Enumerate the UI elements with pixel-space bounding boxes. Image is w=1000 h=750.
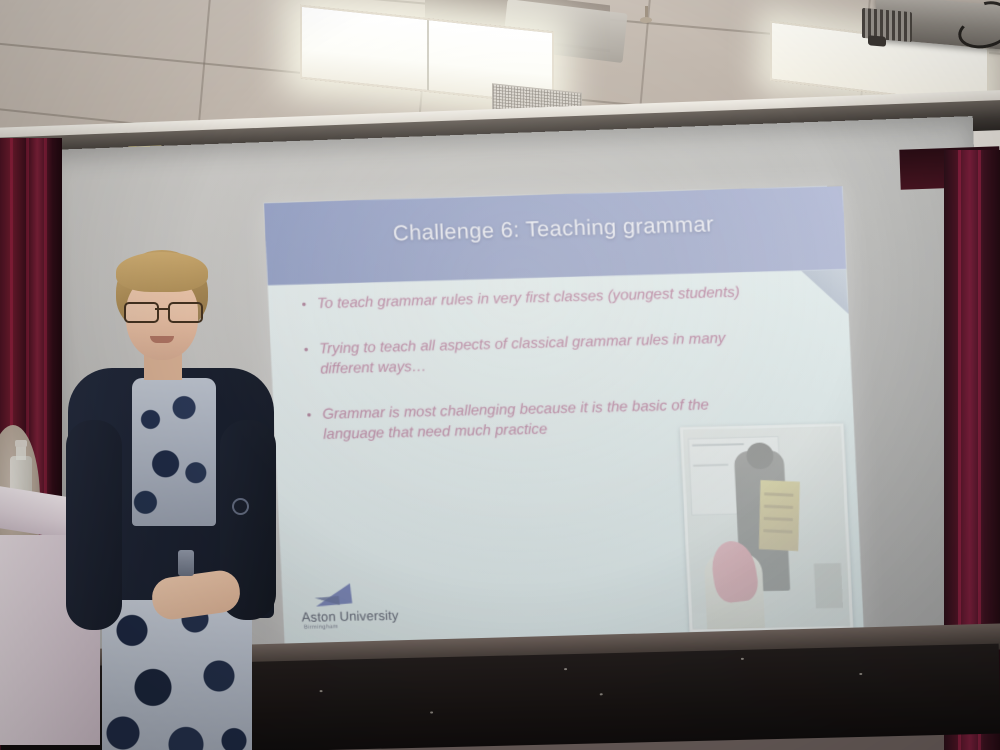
presenter-fringe	[116, 252, 208, 292]
bullet-text: Trying to teach all aspects of classical…	[319, 327, 771, 379]
presenter-brooch	[232, 498, 249, 515]
presenter	[60, 250, 290, 750]
slide-embedded-photo	[680, 423, 853, 632]
presenter-lanyard	[178, 550, 194, 576]
sprinkler-icon	[640, 6, 652, 26]
bullet-text: To teach grammar rules in very first cla…	[317, 282, 741, 314]
eyeglasses-icon	[124, 302, 202, 320]
presenter-skirt	[102, 600, 252, 750]
list-item: • To teach grammar rules in very first c…	[290, 280, 829, 315]
bullet-marker: •	[292, 339, 319, 360]
presentation-slide: Challenge 6: Teaching grammar • To teach…	[264, 186, 865, 651]
triangle-logo-shadow-icon	[315, 596, 340, 607]
ceiling-projector	[862, 0, 1000, 56]
list-item: • Trying to teach all aspects of classic…	[292, 326, 832, 380]
projector-lens	[868, 35, 886, 47]
bullet-marker: •	[290, 294, 317, 315]
presentation-photo-scene: Challenge 6: Teaching grammar • To teach…	[0, 0, 1000, 750]
presenter-mouth	[150, 336, 174, 343]
logo-name: Aston University	[301, 608, 399, 625]
presenter-dress-top	[132, 378, 216, 526]
aston-university-logo: Aston University Birmingham	[300, 583, 424, 634]
presenter-left-arm	[66, 420, 122, 630]
bullet-marker: •	[296, 405, 323, 426]
logo-sublabel: Birmingham	[304, 624, 339, 631]
